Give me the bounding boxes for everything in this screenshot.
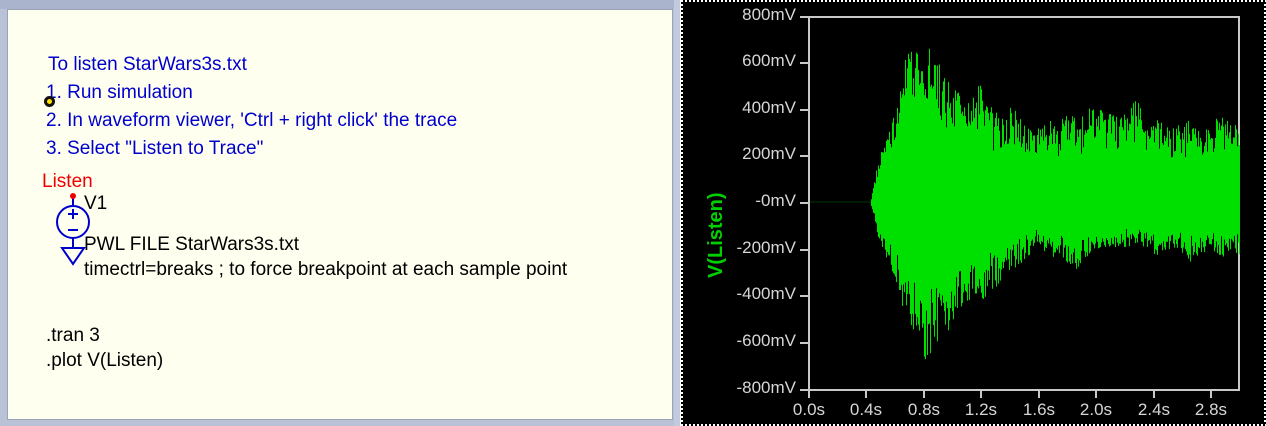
note-line-step-3: 3. Select "Listen to Trace" (46, 138, 263, 160)
note-line-step-2: 2. In waveform viewer, 'Ctrl + right cli… (46, 110, 457, 132)
waveform-viewer-pane[interactable]: V(Listen) 800mV 600mV 400mV 200mV -0mV -… (681, 0, 1266, 426)
component-designator-label[interactable]: V1 (84, 193, 107, 215)
plot-area[interactable]: V(Listen) 800mV 600mV 400mV 200mV -0mV -… (681, 0, 1266, 426)
spice-directive-plot[interactable]: .plot V(Listen) (46, 350, 163, 372)
component-option-label[interactable]: timectrl=breaks ; to force breakpoint at… (84, 259, 567, 281)
component-value-label[interactable]: PWL FILE StarWars3s.txt (84, 234, 299, 256)
spice-directive-tran[interactable]: .tran 3 (46, 325, 100, 347)
note-line-step-1: 1. Run simulation (46, 82, 193, 104)
schematic-pane: To listen StarWars3s.txt 1. Run simulati… (0, 0, 680, 426)
schematic-canvas[interactable]: To listen StarWars3s.txt 1. Run simulati… (7, 9, 673, 420)
note-line-title: To listen StarWars3s.txt (48, 54, 247, 76)
schematic-right-strip (674, 0, 680, 426)
ltspice-window: To listen StarWars3s.txt 1. Run simulati… (0, 0, 1266, 426)
waveform-trace[interactable] (681, 0, 1266, 426)
net-label-listen[interactable]: Listen (42, 171, 93, 193)
schematic-top-strip (0, 0, 680, 9)
port-marker-icon[interactable] (44, 96, 55, 107)
